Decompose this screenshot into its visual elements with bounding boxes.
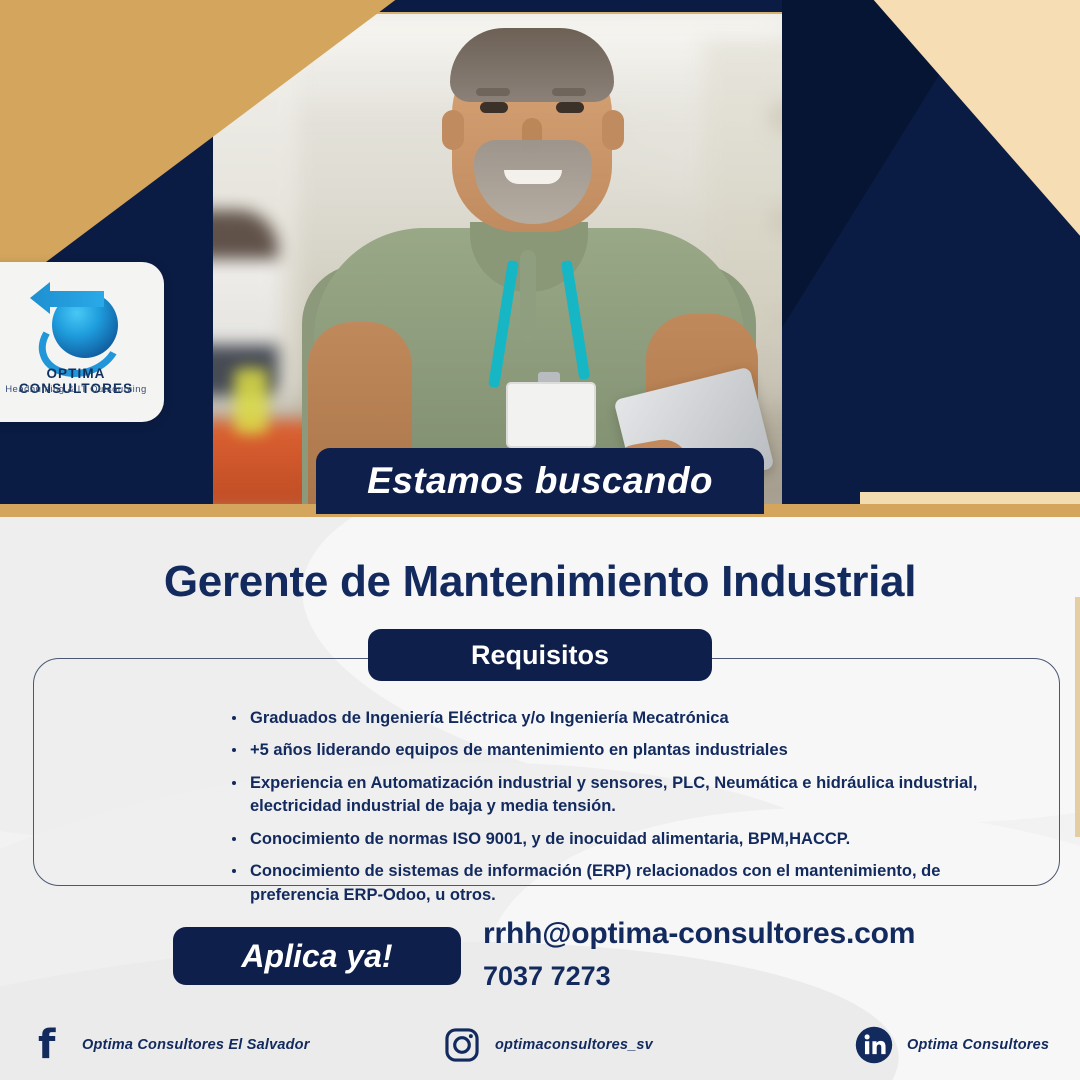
decor-gold-right-edge [1075, 597, 1080, 837]
requirement-text: +5 años liderando equipos de mantenimien… [250, 741, 788, 759]
photo-subject [294, 14, 764, 514]
subject-right-ear [602, 110, 624, 150]
requirement-text: Conocimiento de sistemas de información … [250, 862, 940, 903]
social-facebook[interactable]: f Optima Consultores El Salvador [30, 1022, 310, 1068]
contact-email[interactable]: rrhh@optima-consultores.com [483, 917, 915, 951]
job-posting-poster: OPTIMA CONSULTORES Headhunting & IT Outs… [0, 0, 1080, 1080]
requirement-text: Graduados de Ingeniería Eléctrica y/o In… [250, 709, 729, 727]
social-linkedin[interactable]: Optima Consultores [855, 1022, 1049, 1068]
contact-phone[interactable]: 7037 7273 [483, 961, 611, 992]
bullet-icon [232, 716, 236, 720]
subject-hair [450, 28, 614, 102]
subject-left-eye [480, 102, 508, 113]
requirement-item: +5 años liderando equipos de mantenimien… [232, 739, 1022, 762]
bullet-icon [232, 837, 236, 841]
brand-tagline: Headhunting & IT Outsourcing [0, 384, 164, 395]
subject-right-eye [556, 102, 584, 113]
optima-globe-logo-icon [30, 276, 126, 362]
subject-smile [504, 170, 562, 184]
social-handle: Optima Consultores El Salvador [82, 1037, 310, 1053]
subject-left-brow [476, 88, 510, 96]
banner-text: Estamos buscando [367, 460, 713, 502]
bullet-icon [232, 781, 236, 785]
apply-button[interactable]: Aplica ya! [173, 927, 461, 985]
requirements-list: Graduados de Ingeniería Eléctrica y/o In… [232, 707, 1022, 916]
instagram-icon [443, 1026, 481, 1064]
social-instagram[interactable]: optimaconsultores_sv [443, 1022, 653, 1068]
subject-id-badge [506, 382, 596, 448]
estamos-buscando-banner: Estamos buscando [316, 448, 764, 514]
subject-left-ear [442, 110, 464, 150]
apply-button-label: Aplica ya! [241, 938, 392, 975]
job-title: Gerente de Mantenimiento Industrial [0, 557, 1080, 607]
content-area: Gerente de Mantenimiento Industrial Requ… [0, 517, 1080, 1080]
photo-bg-bottle [234, 368, 268, 434]
requirement-text: Conocimiento de normas ISO 9001, y de in… [250, 830, 850, 848]
requirement-item: Graduados de Ingeniería Eléctrica y/o In… [232, 707, 1022, 730]
social-handle: Optima Consultores [907, 1037, 1049, 1053]
linkedin-icon [855, 1026, 893, 1064]
requirement-item: Experiencia en Automatización industrial… [232, 772, 1022, 819]
requirements-heading-chip: Requisitos [368, 629, 712, 681]
bullet-icon [232, 748, 236, 752]
brand-logo-card: OPTIMA CONSULTORES Headhunting & IT Outs… [0, 262, 164, 422]
requirement-item: Conocimiento de normas ISO 9001, y de in… [232, 828, 1022, 851]
requirement-item: Conocimiento de sistemas de información … [232, 860, 1022, 907]
social-handle: optimaconsultores_sv [495, 1037, 653, 1053]
subject-right-brow [552, 88, 586, 96]
facebook-icon: f [30, 1026, 68, 1064]
bullet-icon [232, 869, 236, 873]
subject-placket [520, 250, 536, 342]
requirements-heading: Requisitos [471, 640, 609, 671]
requirement-text: Experiencia en Automatización industrial… [250, 774, 977, 815]
hero-photo-area: OPTIMA CONSULTORES Headhunting & IT Outs… [0, 0, 1080, 517]
